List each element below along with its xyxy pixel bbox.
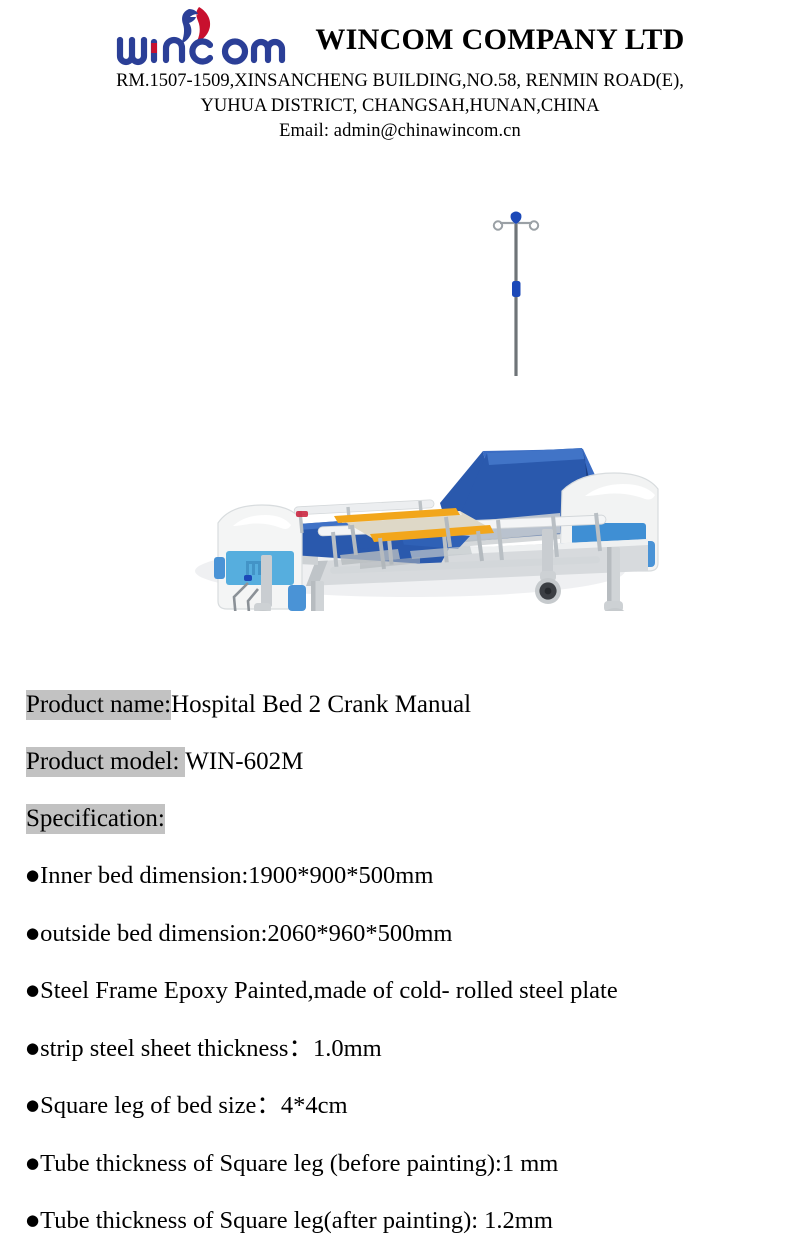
bullet-icon: ●: [26, 1039, 40, 1057]
page-header: WINCOM COMPANY LTD RM.1507-1509,XINSANCH…: [0, 0, 800, 143]
brand-row: WINCOM COMPANY LTD: [0, 6, 800, 68]
spec-bullet-text: Square leg of bed size：4*4cm: [40, 1092, 348, 1119]
product-name-row: Product name:Hospital Bed 2 Crank Manual: [26, 676, 786, 733]
spec-bullet-6: ●Tube thickness of Square leg (before pa…: [26, 1135, 786, 1193]
product-model-row: Product model: WIN-602M: [26, 733, 786, 790]
specification-label: Specification:: [26, 804, 165, 834]
spec-bullet-3: ●Steel Frame Epoxy Painted,made of cold-…: [26, 962, 786, 1020]
email-line: Email: admin@chinawincom.cn: [0, 120, 800, 143]
footboard: [214, 505, 306, 611]
wincom-wordmark-icon: [115, 30, 305, 70]
product-name-label: Product name:: [26, 690, 171, 720]
bullet-icon: ●: [26, 866, 40, 884]
specification-block: Product name:Hospital Bed 2 Crank Manual…: [26, 676, 786, 1250]
spec-bullet-1: ●Inner bed dimension:1900*900*500mm: [26, 847, 786, 905]
product-image: [0, 151, 800, 611]
product-name-value: Hospital Bed 2 Crank Manual: [171, 691, 471, 718]
caster-front-right: [599, 601, 631, 611]
bullet-icon: ●: [26, 1154, 40, 1172]
spec-bullet-text: Steel Frame Epoxy Painted,made of cold- …: [40, 977, 618, 1004]
specification-row: Specification:: [26, 790, 786, 847]
spec-bullet-5: ●Square leg of bed size：4*4cm: [26, 1077, 786, 1135]
footboard-logo-icon: [246, 561, 261, 575]
footboard-bumper-right: [288, 585, 306, 611]
wincom-logo: [115, 6, 305, 68]
bullet-icon: ●: [26, 981, 40, 999]
hospital-bed-illustration: [0, 151, 800, 611]
product-spec-page: { "header": { "logo_icon": "wincom-flame…: [0, 0, 800, 1241]
spec-bullet-4: ●strip steel sheet thickness：1.0mm: [26, 1020, 786, 1078]
footboard-bumper-left: [214, 557, 225, 579]
bullet-icon: ●: [26, 1211, 40, 1229]
spec-bullet-text: Inner bed dimension:1900*900*500mm: [40, 862, 433, 889]
spec-bullet-text: strip steel sheet thickness：1.0mm: [40, 1035, 382, 1062]
company-name: WINCOM COMPANY LTD: [315, 19, 684, 55]
bullet-icon: ●: [26, 1096, 40, 1114]
product-model-label: Product model:: [26, 747, 185, 777]
spec-bullet-2: ●outside bed dimension:2060*960*500mm: [26, 905, 786, 963]
product-model-value: WIN-602M: [185, 748, 303, 775]
bullet-icon: ●: [26, 924, 40, 942]
iv-pole-icon: [494, 212, 538, 377]
address-line-2: YUHUA DISTRICT, CHANGSAH,HUNAN,CHINA: [0, 95, 800, 118]
spec-bullet-text: Tube thickness of Square leg(after paint…: [40, 1207, 553, 1234]
spec-bullet-text: Tube thickness of Square leg (before pai…: [40, 1150, 558, 1177]
address-line-1: RM.1507-1509,XINSANCHENG BUILDING,NO.58,…: [0, 70, 800, 93]
spec-bullet-text: outside bed dimension:2060*960*500mm: [40, 920, 452, 947]
